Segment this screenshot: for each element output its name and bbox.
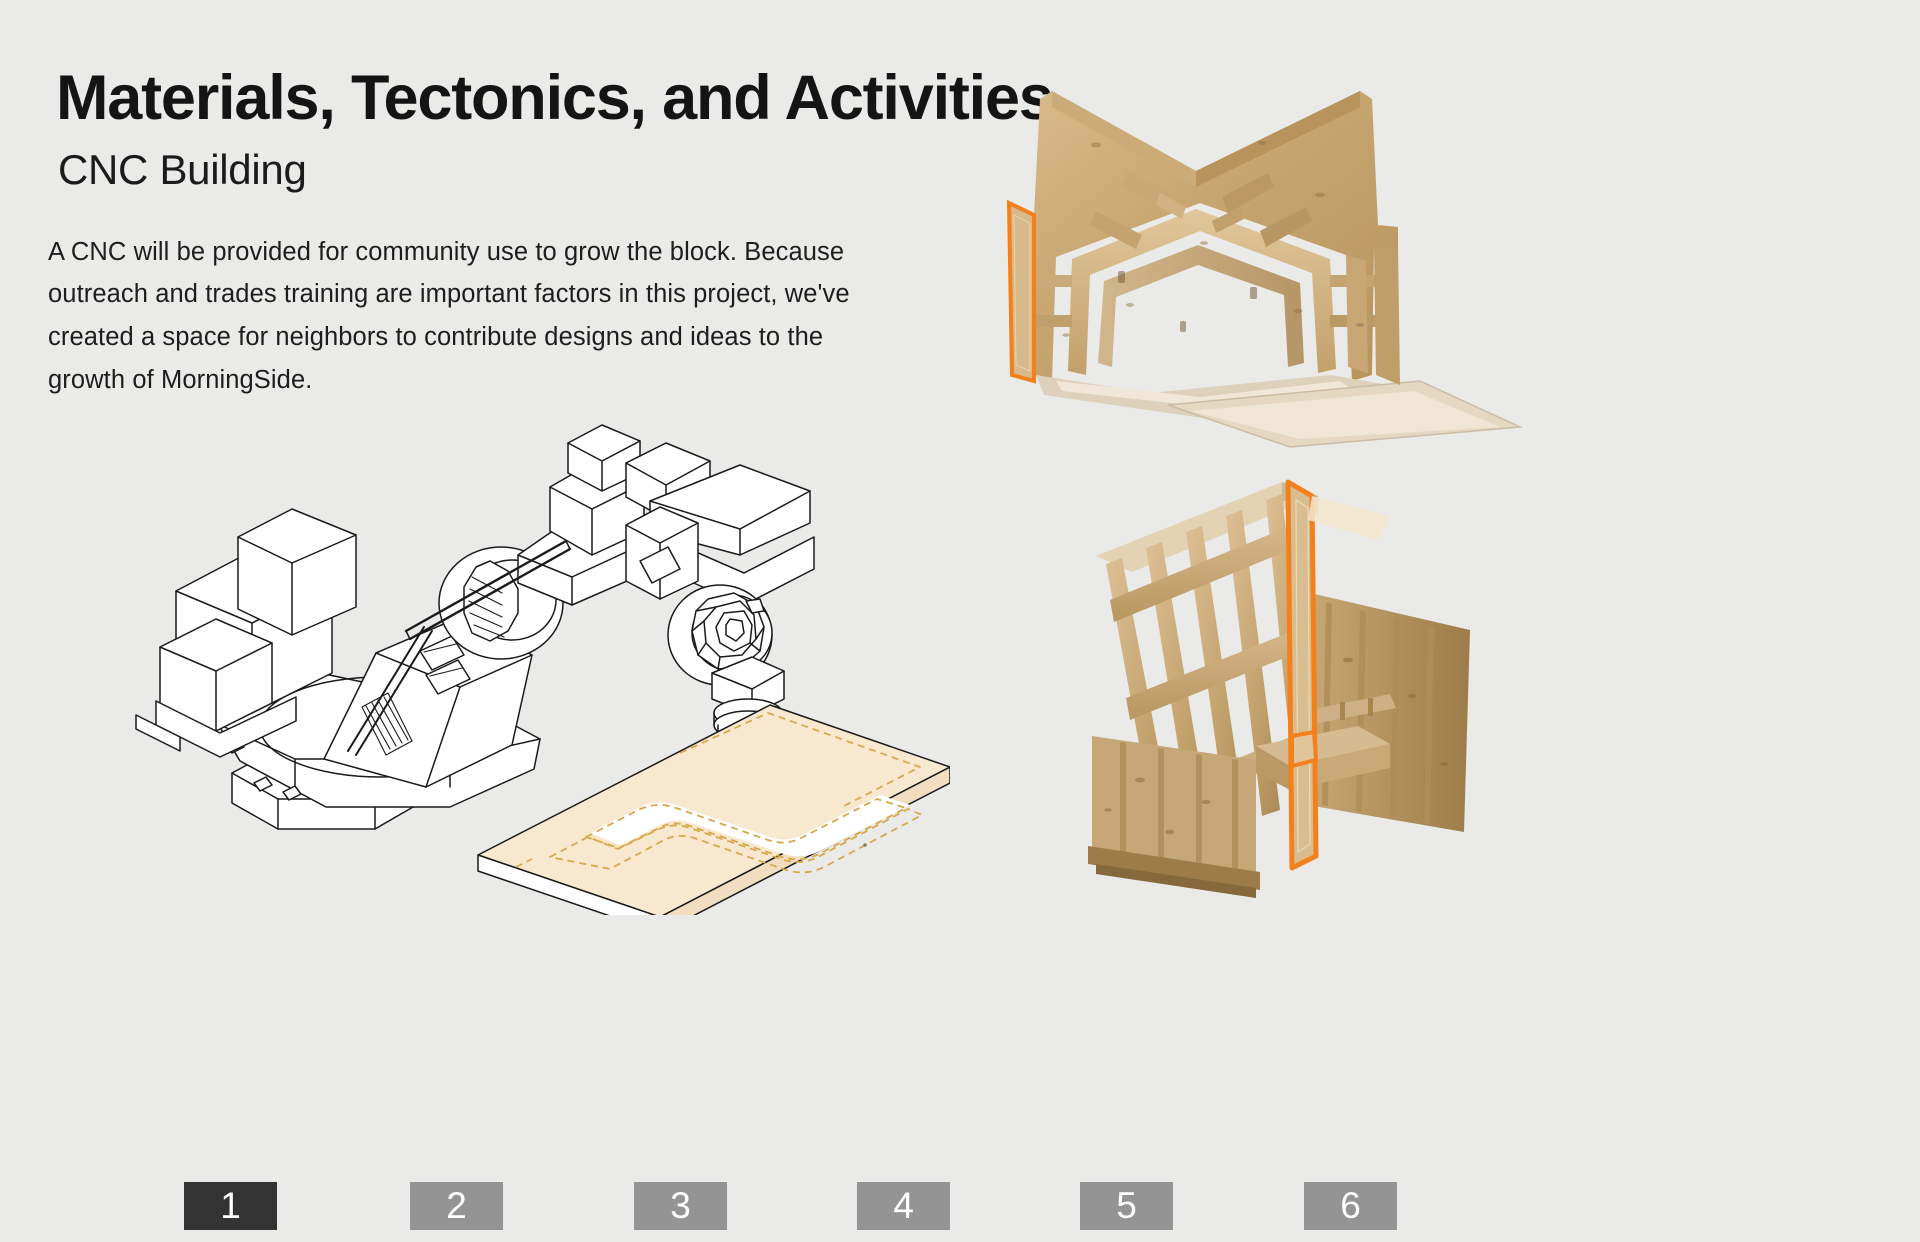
page-chip-6[interactable]: 6 [1304, 1182, 1397, 1230]
plywood-sheet-cut-pattern [478, 705, 950, 915]
timber-shelter-structure-photo [1060, 460, 1500, 905]
page-chip-2[interactable]: 2 [410, 1182, 503, 1230]
page-chip-1[interactable]: 1 [184, 1182, 277, 1230]
cnc-robot-arm-line-drawing [120, 355, 950, 915]
page-title: Materials, Tectonics, and Activities [56, 64, 1053, 132]
presentation-slide: Materials, Tectonics, and Activities CNC… [0, 0, 1920, 1242]
page-chip-5[interactable]: 5 [1080, 1182, 1173, 1230]
page-chip-4[interactable]: 4 [857, 1182, 950, 1230]
page-chip-3[interactable]: 3 [634, 1182, 727, 1230]
timber-pavilion-frame-photo [1000, 75, 1540, 450]
pagination: 1 2 3 4 5 6 [0, 1182, 1920, 1234]
page-subtitle: CNC Building [58, 147, 307, 193]
